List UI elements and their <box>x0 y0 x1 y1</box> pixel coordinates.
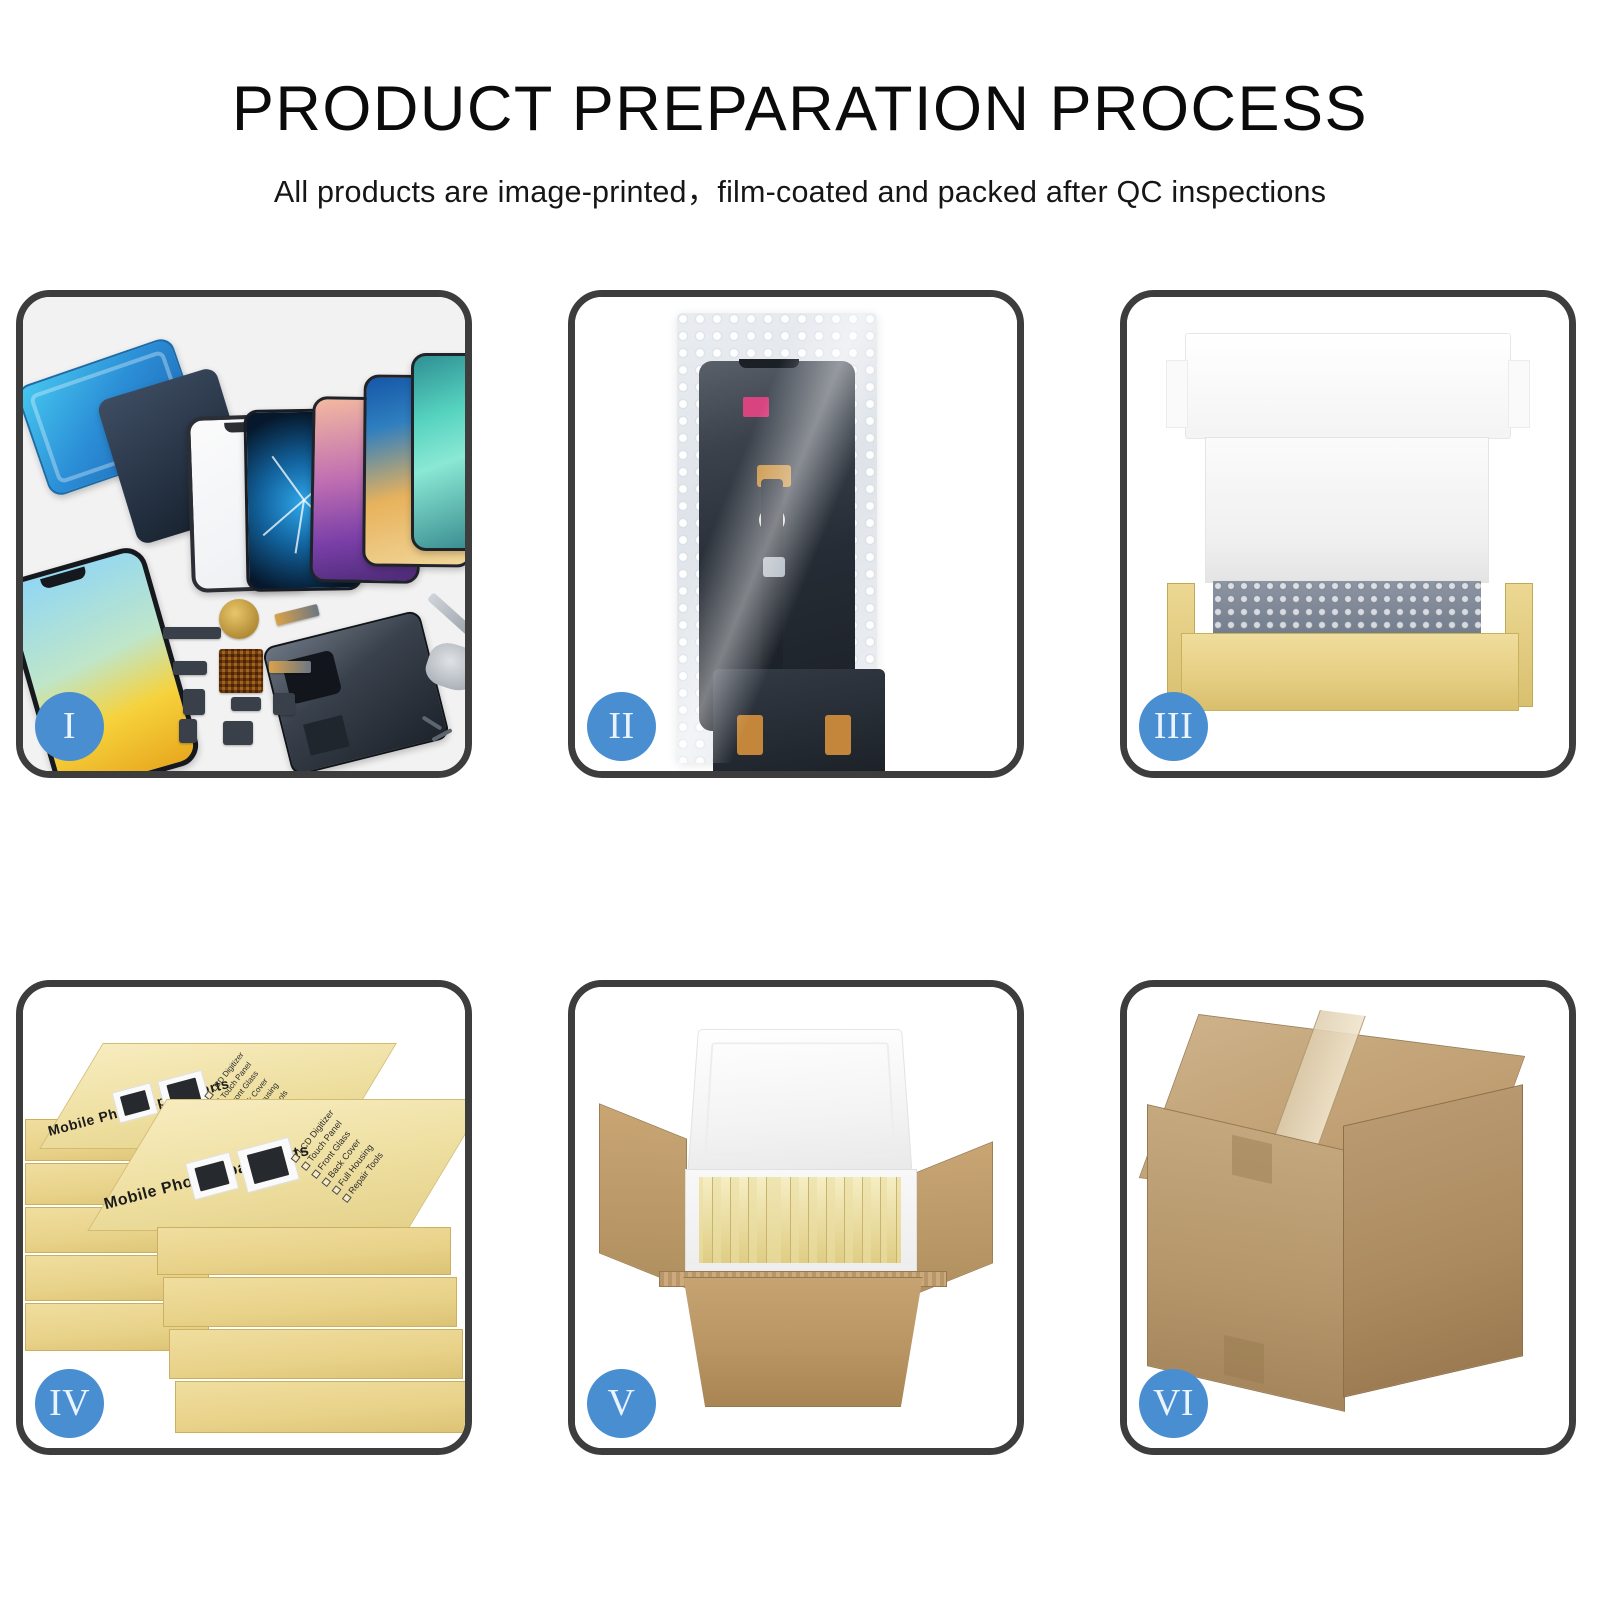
sim-tray-part <box>179 719 197 743</box>
retail-box-edge <box>175 1381 465 1433</box>
speaker-part <box>231 697 261 711</box>
process-step-grid: I <box>16 290 1584 1455</box>
step-panel-4[interactable]: Mobile Phone Spare Parts LCD Digitizer T… <box>16 980 472 1455</box>
step-panel-6[interactable]: VI <box>1120 980 1576 1455</box>
header: PRODUCT PREPARATION PROCESS All products… <box>0 0 1600 211</box>
retail-box-edge <box>157 1227 451 1275</box>
step-panel-2[interactable]: II <box>568 290 1024 778</box>
carton-right-face <box>1343 1084 1523 1398</box>
step-badge-5: V <box>587 1369 656 1438</box>
page-subtitle: All products are image-printed，film-coat… <box>0 167 1600 211</box>
step-panel-1[interactable]: I <box>16 290 472 778</box>
step-badge-1: I <box>35 692 104 761</box>
flex-cable-part <box>274 604 320 626</box>
step-badge-4: IV <box>35 1369 104 1438</box>
camera-module-part <box>183 689 205 715</box>
tweezers-tool <box>427 592 465 648</box>
carton-flap-seam <box>1232 1135 1272 1184</box>
step-badge-3: III <box>1139 692 1208 761</box>
sensor-part <box>273 693 295 715</box>
pink-qc-label <box>743 397 769 417</box>
mailer-box-lid <box>1185 333 1511 439</box>
step-badge-2: II <box>587 692 656 761</box>
bubble-wrap-filler <box>1213 581 1481 639</box>
lcd-driver-chip <box>763 557 785 577</box>
lcd-flex-cable <box>761 479 783 695</box>
foam-cooler-lid <box>688 1029 913 1172</box>
packed-retail-boxes <box>699 1177 901 1263</box>
wrapped-lcd-assembly <box>699 361 855 731</box>
carton-flap-left <box>599 1103 687 1289</box>
carton-flap-seam <box>1224 1335 1264 1384</box>
vibrator-coil-part <box>219 599 259 639</box>
ic-chip-part <box>219 649 263 693</box>
button-flex-part <box>269 661 311 673</box>
small-connector-part <box>173 661 207 675</box>
step-badge-6: VI <box>1139 1369 1208 1438</box>
teal-display-graphic <box>411 353 465 551</box>
screwdriver-set-tool <box>421 715 465 749</box>
step-panel-3[interactable]: III <box>1120 290 1576 778</box>
taptic-engine-part <box>223 721 253 745</box>
earpiece-mesh-part <box>163 627 221 639</box>
lcd-lower-assembly <box>713 669 885 771</box>
carton-front-panel <box>667 1277 939 1407</box>
white-foam-sheet <box>1205 437 1489 583</box>
bubble-wrap-bag <box>677 313 877 763</box>
page-title: PRODUCT PREPARATION PROCESS <box>0 78 1600 141</box>
mailer-box-front-panel <box>1181 633 1519 711</box>
step-panel-5[interactable]: V <box>568 980 1024 1455</box>
carton-left-face <box>1147 1104 1345 1412</box>
retail-box-edge <box>163 1277 457 1327</box>
retail-box-edge <box>169 1329 463 1379</box>
